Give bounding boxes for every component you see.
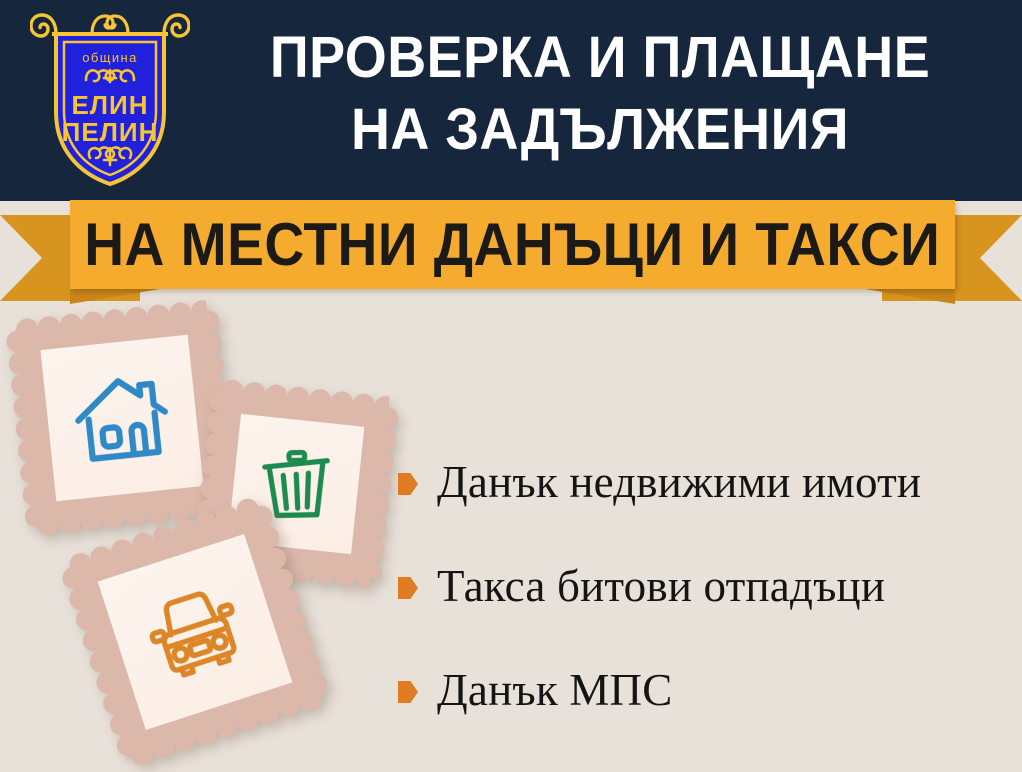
- ribbon-panel: НА МЕСТНИ ДАНЪЦИ И ТАКСИ: [70, 200, 955, 289]
- stamp-scallop-top: [220, 379, 389, 418]
- bullet-arrow-icon: [398, 681, 418, 703]
- list-item[interactable]: Данък МПС: [398, 638, 1008, 742]
- bullet-arrow-icon: [398, 473, 418, 495]
- list-item[interactable]: Данък недвижими имоти: [398, 430, 1008, 534]
- title-line-2: НА ЗАДЪЛЖЕНИЯ: [219, 94, 982, 166]
- poster-canvas: община ЕЛИН ПЕЛИН: [0, 0, 1022, 772]
- house-icon: [65, 360, 179, 477]
- stamp-card-property: [16, 311, 227, 526]
- logo-text-pelin: ПЕЛИН: [62, 117, 159, 147]
- bullet-arrow-icon: [398, 577, 418, 599]
- list-item-label: Данък недвижими имоти: [437, 456, 921, 508]
- list-item-label: Такса битови отпадъци: [437, 560, 885, 612]
- tax-type-list: Данък недвижими имоти Такса битови отпад…: [398, 430, 1008, 742]
- stamp-inner-panel: [98, 534, 293, 730]
- car-front-icon: [127, 563, 263, 700]
- stamp-scallop-right: [360, 406, 400, 579]
- stamp-border: [16, 311, 227, 526]
- stamp-inner-panel: [40, 335, 203, 502]
- logo-text-obshtina: община: [82, 50, 137, 65]
- list-item[interactable]: Такса битови отпадъци: [398, 534, 1008, 638]
- ribbon-banner: НА МЕСТНИ ДАНЪЦИ И ТАКСИ: [0, 196, 1022, 314]
- ribbon-subtitle: НА МЕСТНИ ДАНЪЦИ И ТАКСИ: [84, 214, 940, 276]
- title-line-1: ПРОВЕРКА И ПЛАЩАНЕ: [219, 22, 982, 94]
- list-item-label: Данък МПС: [437, 664, 672, 716]
- municipality-logo: община ЕЛИН ПЕЛИН: [30, 8, 190, 193]
- logo-text-elin: ЕЛИН: [71, 90, 148, 120]
- page-title: ПРОВЕРКА И ПЛАЩАНЕ НА ЗАДЪЛЖЕНИЯ: [190, 22, 1010, 166]
